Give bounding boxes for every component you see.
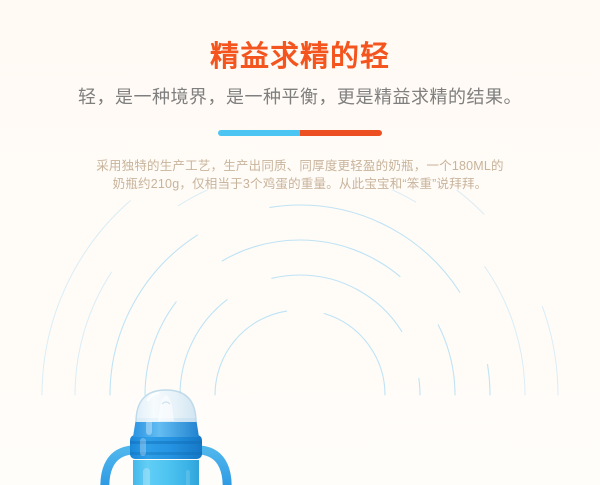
bottle-handle-right (200, 450, 227, 485)
page-subtitle: 轻，是一种境界，是一种平衡，更是精益求精的结果。 (0, 86, 600, 109)
baby-bottle (96, 388, 236, 485)
bottle-handle-left (105, 450, 132, 485)
body-paragraph-line-1: 采用独特的生产工艺，生产出同质、同厚度更轻盈的奶瓶，一个180ML的 (85, 157, 515, 175)
section-divider (218, 130, 382, 136)
body-paragraph: 采用独特的生产工艺，生产出同质、同厚度更轻盈的奶瓶，一个180ML的 奶瓶约21… (85, 157, 515, 193)
balance-illustration (0, 190, 600, 485)
promo-page: 精益求精的轻 轻，是一种境界，是一种平衡，更是精益求精的结果。 采用独特的生产工… (0, 0, 600, 485)
page-title: 精益求精的轻 (0, 42, 600, 74)
radial-arc-decoration (0, 190, 600, 485)
divider-segment-orange (300, 130, 382, 136)
divider-segment-blue (218, 130, 300, 136)
